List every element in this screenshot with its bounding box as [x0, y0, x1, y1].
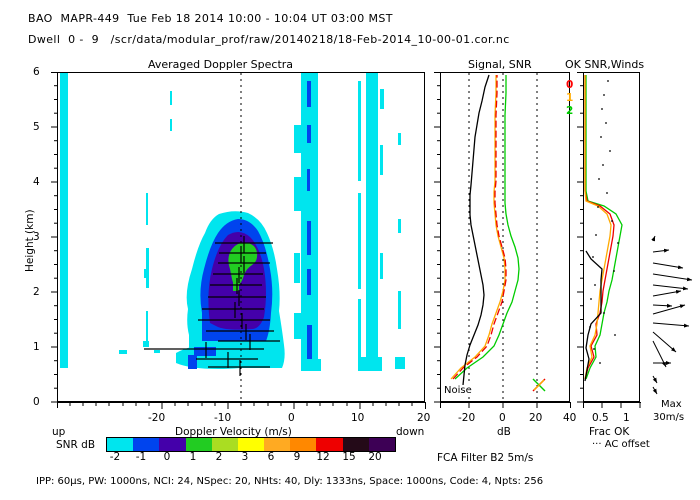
signal-xtick--20: -20: [458, 412, 475, 424]
ok-x-axis-label: Frac OK: [589, 426, 629, 438]
signal-panel-title: Signal, SNR: [468, 58, 532, 71]
ac-offset-label: ··· AC offset: [592, 439, 650, 450]
spectra-x-axis: [57, 402, 426, 412]
colorbar-swatch-10: [369, 438, 395, 451]
colorbar-tick-3: 1: [180, 451, 206, 463]
colorbar-tick-0: -2: [102, 451, 128, 463]
colorbar-tick-8: 12: [310, 451, 336, 463]
colorbar-swatch-0: [107, 438, 133, 451]
wind-max-value: 30m/s: [653, 412, 684, 423]
colorbar-tick-1: -1: [128, 451, 154, 463]
colorbar-tick-2: 0: [154, 451, 180, 463]
noise-label: Noise: [443, 385, 473, 396]
signal-xtick-40: 40: [563, 412, 576, 424]
spectra-ytick-0: 0: [33, 396, 40, 408]
colorbar-tick-4: 2: [206, 451, 232, 463]
colorbar-swatch-9: [343, 438, 369, 451]
spectra-panel-title: Averaged Doppler Spectra: [148, 58, 293, 71]
colorbar-swatch-5: [238, 438, 264, 451]
header-line-2: Dwell 0 - 9 /scr/data/modular_prof/raw/2…: [28, 33, 510, 46]
spectra-xtick--10: -10: [214, 412, 231, 424]
spectra-xtick-10: 10: [351, 412, 364, 424]
colorbar-swatch-4: [212, 438, 238, 451]
ok-legend-item-2: 2: [566, 106, 573, 117]
ok-xtick-0p5: 0.5: [592, 412, 609, 424]
colorbar-swatch-3: [186, 438, 212, 451]
spectra-down-note: down: [396, 426, 424, 438]
signal-xtick-20: 20: [529, 412, 542, 424]
colorbar-swatch-1: [133, 438, 159, 451]
spectra-y-axis: [47, 72, 58, 403]
signal-snr-lines: [441, 73, 569, 401]
signal-xtick-0: 0: [499, 412, 506, 424]
spectra-plot-frame[interactable]: [57, 72, 425, 402]
signal-x-axis-label: dB: [497, 426, 511, 438]
spectra-ytick-4: 4: [33, 176, 40, 188]
ok-xtick-1: 1: [623, 412, 630, 424]
spectra-up-note: up: [52, 426, 65, 438]
ok-x-axis: [583, 402, 641, 412]
spectra-ytick-6: 6: [33, 66, 40, 78]
signal-x-axis: [440, 402, 571, 412]
colorbar-swatch-6: [264, 438, 290, 451]
spectra-xtick-0: 0: [288, 412, 295, 424]
colorbar-label: SNR dB: [56, 439, 95, 451]
ok-legend-item-1: 1: [566, 93, 573, 104]
wind-max-label: Max: [661, 399, 682, 410]
colorbar-tick-5: 3: [232, 451, 258, 463]
status-line: IPP: 60µs, PW: 1000ns, NCI: 24, NSpec: 2…: [36, 476, 543, 487]
spectra-ytick-1: 1: [33, 341, 40, 353]
fca-filter-label: FCA Filter B2 5m/s: [437, 452, 533, 464]
spectra-xtick-20: 20: [417, 412, 430, 424]
colorbar-tick-10: 20: [362, 451, 388, 463]
spectra-xtick--20: -20: [148, 412, 165, 424]
wind-vector-panel: [645, 235, 700, 400]
spectra-y-axis-label: Height (km): [24, 209, 36, 272]
spectra-ytick-2: 2: [33, 286, 40, 298]
colorbar-swatch-7: [290, 438, 316, 451]
colorbar-tick-7: 9: [284, 451, 310, 463]
ok-panel-title: OK SNR,Winds: [565, 58, 644, 71]
colorbar-swatch-8: [316, 438, 342, 451]
colorbar-tick-9: 15: [336, 451, 362, 463]
ok-legend-item-0: 0: [566, 80, 573, 91]
ok-plot-frame[interactable]: [583, 72, 640, 402]
spectra-ytick-5: 5: [33, 121, 40, 133]
colorbar-tick-6: 6: [258, 451, 284, 463]
frac-ok-lines: [584, 73, 639, 401]
signal-y-axis: [430, 72, 441, 403]
spectra-heatmap: [58, 73, 424, 401]
header-line-1: BAO MAPR-449 Tue Feb 18 2014 10:00 - 10:…: [28, 12, 393, 25]
colorbar-swatch-2: [159, 438, 185, 451]
ok-y-axis: [574, 72, 584, 403]
snr-colorbar[interactable]: [106, 437, 396, 452]
signal-plot-frame[interactable]: [440, 72, 570, 402]
